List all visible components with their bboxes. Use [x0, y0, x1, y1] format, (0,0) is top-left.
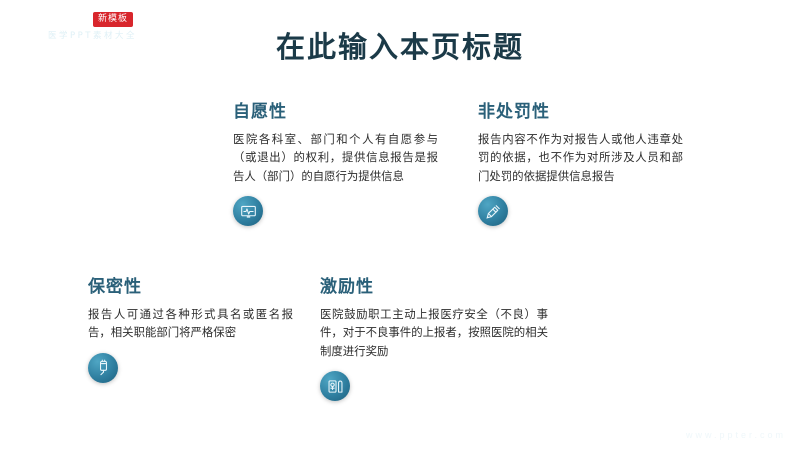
ecg-monitor-icon — [233, 196, 263, 226]
content-block-confidential: 保密性 报告人可通过各种形式具名或匿名报告，相关职能部门将严格保密 — [88, 272, 293, 383]
block-body: 报告内容不作为对报告人或他人违章处罚的依据，也不作为对所涉及人员和部门处罚的依据… — [478, 130, 683, 185]
block-body: 报告人可通过各种形式具名或匿名报告，相关职能部门将严格保密 — [88, 305, 293, 342]
block-heading: 非处罚性 — [478, 97, 683, 122]
presentation-slide: P PPT 新模板 医学PPT素材大全 在此输入本页标题 自愿性 医院各科室、部… — [0, 0, 800, 450]
hospital-bed-monitor-icon — [320, 371, 350, 401]
block-heading: 激励性 — [320, 272, 548, 297]
page-title: 在此输入本页标题 — [0, 24, 800, 66]
block-heading: 保密性 — [88, 272, 293, 297]
syringe-icon — [478, 196, 508, 226]
watermark: www.ppter.com — [686, 430, 786, 440]
block-body: 医院各科室、部门和个人有自愿参与（或退出）的权利，提供信息报告是报告人（部门）的… — [233, 130, 438, 185]
iv-drip-icon — [88, 353, 118, 383]
content-block-non-punitive: 非处罚性 报告内容不作为对报告人或他人违章处罚的依据，也不作为对所涉及人员和部门… — [478, 97, 683, 226]
block-body: 医院鼓励职工主动上报医疗安全（不良）事件，对于不良事件的上报者，按照医院的相关制… — [320, 305, 548, 360]
block-heading: 自愿性 — [233, 97, 438, 122]
content-block-incentive: 激励性 医院鼓励职工主动上报医疗安全（不良）事件，对于不良事件的上报者，按照医院… — [320, 272, 548, 401]
content-block-voluntary: 自愿性 医院各科室、部门和个人有自愿参与（或退出）的权利，提供信息报告是报告人（… — [233, 97, 438, 226]
